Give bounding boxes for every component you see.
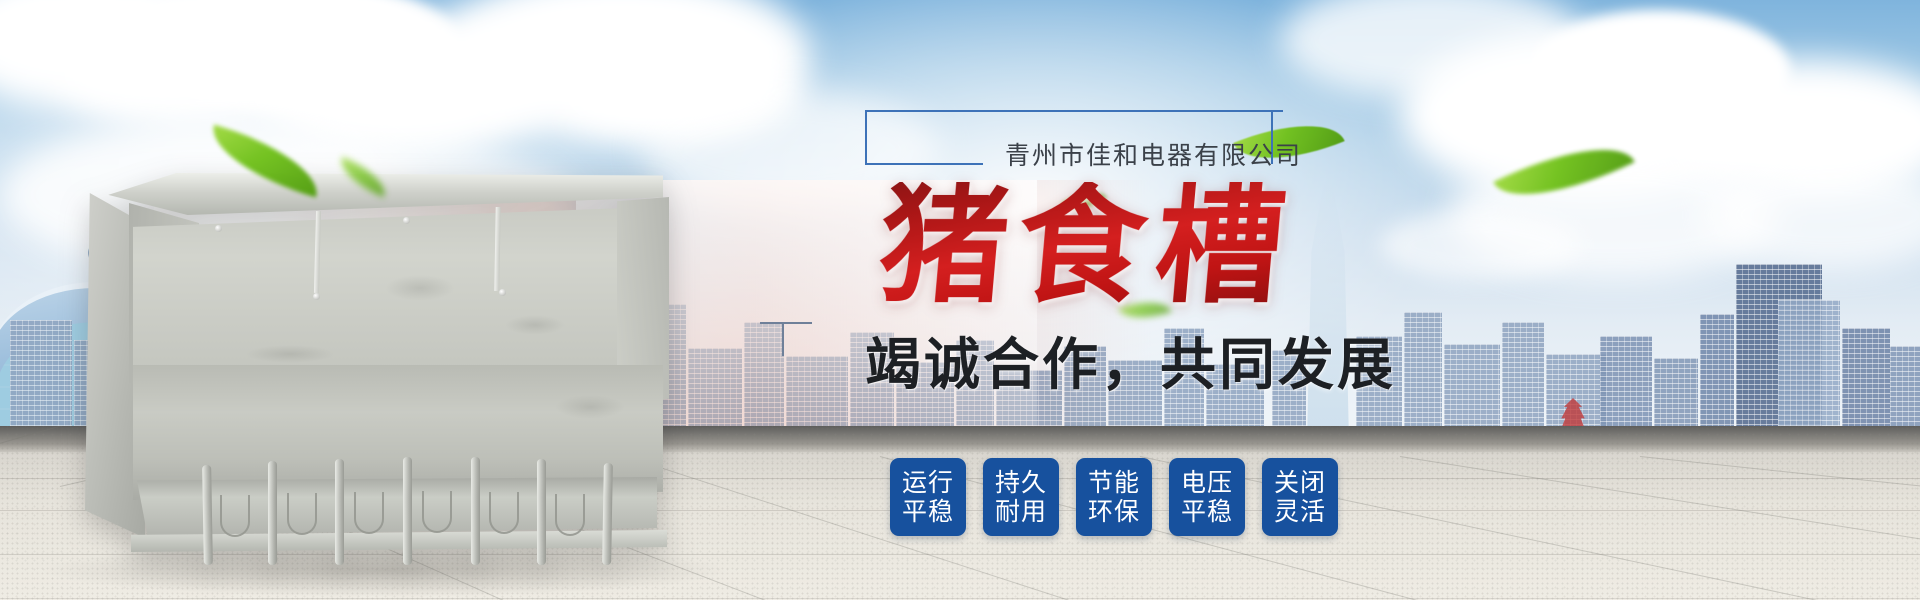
feature-badge-3-line2: 环保	[1088, 497, 1140, 527]
headline-group: 青州市佳和电器有限公司 猪食槽 竭诚合作，共同发展	[855, 110, 1495, 166]
feature-badge-2-line1: 持久	[995, 468, 1047, 498]
promo-banner: 青州市佳和电器有限公司 猪食槽 竭诚合作，共同发展 运行 平稳 持久 耐用 节能…	[0, 0, 1920, 600]
feature-badge-3[interactable]: 节能 环保	[1076, 458, 1152, 536]
feature-badge-1-line1: 运行	[902, 468, 954, 498]
product-image-feeder-trough	[85, 165, 675, 560]
feature-badge-4-line1: 电压	[1181, 468, 1233, 498]
feature-badge-5-line1: 关闭	[1274, 468, 1326, 498]
frame-line-left	[865, 110, 867, 164]
sub-title: 竭诚合作，共同发展	[865, 338, 1396, 394]
main-title: 猪食槽	[874, 182, 1299, 310]
feature-badge-2-line2: 耐用	[995, 497, 1047, 527]
feature-badge-1-line2: 平稳	[902, 497, 954, 527]
feature-badge-4-line2: 平稳	[1181, 497, 1233, 527]
frame-line-bottom	[865, 163, 983, 165]
feature-badge-list: 运行 平稳 持久 耐用 节能 环保 电压 平稳 关闭 灵活	[890, 458, 1338, 536]
feature-badge-5-line2: 灵活	[1274, 497, 1326, 527]
feature-badge-2[interactable]: 持久 耐用	[983, 458, 1059, 536]
feature-badge-3-line1: 节能	[1088, 468, 1140, 498]
feature-badge-1[interactable]: 运行 平稳	[890, 458, 966, 536]
company-name: 青州市佳和电器有限公司	[1005, 136, 1302, 172]
feature-badge-5[interactable]: 关闭 灵活	[1262, 458, 1338, 536]
frame-line-top	[865, 110, 1283, 112]
feature-badge-4[interactable]: 电压 平稳	[1169, 458, 1245, 536]
